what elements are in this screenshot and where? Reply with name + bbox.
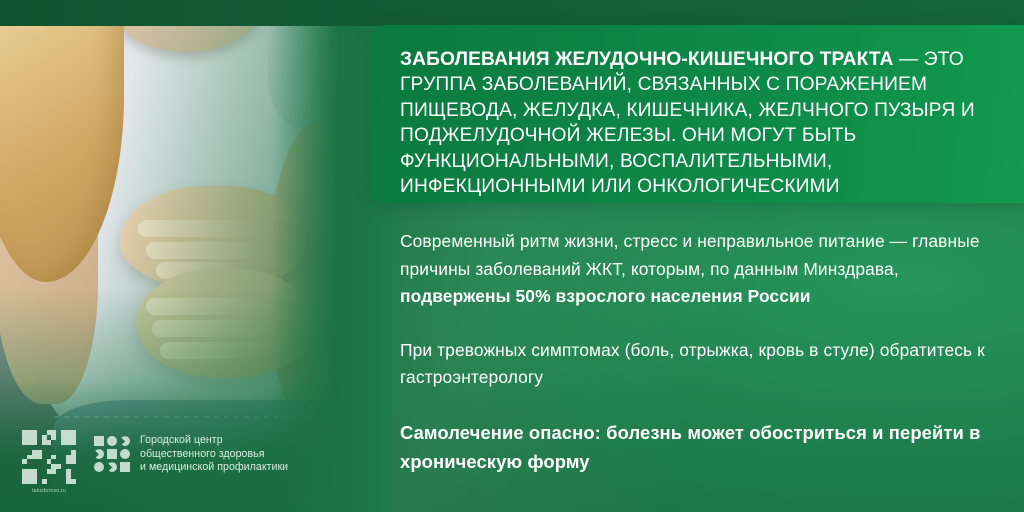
logo-cell-wedge-2 <box>94 449 104 459</box>
infographic-poster: ЗАБОЛЕВАНИЯ ЖЕЛУДОЧНО-КИШЕЧНОГО ТРАКТА —… <box>0 0 1024 512</box>
headline-rest: — ЭТО ГРУППА ЗАБОЛЕВАНИЙ, СВЯЗАННЫХ С ПО… <box>400 49 975 197</box>
organisation-name-line-1: Городской центр <box>140 434 288 448</box>
logo-cell-circle-2 <box>120 449 130 459</box>
headline-bold-lead: ЗАБОЛЕВАНИЯ ЖЕЛУДОЧНО-КИШЕЧНОГО ТРАКТА <box>400 49 893 70</box>
paragraph-causes-highlight: подвержены 50% взрослого населения Росси… <box>400 286 811 306</box>
logo-cell-wedge-3 <box>107 462 117 472</box>
logo-cell-circle-1 <box>107 436 117 446</box>
organisation-name-line-2: общественного здоровья <box>140 448 288 462</box>
footer-logo-lockup: takzdorovo.ru Городской центр общественн… <box>22 430 288 494</box>
organisation-name: Городской центр общественного здоровья и… <box>140 434 288 475</box>
paragraph-causes-plain: Современный ритм жизни, стресс и неправи… <box>400 231 980 279</box>
body-copy: Современный ритм жизни, стресс и неправи… <box>400 228 1014 476</box>
qr-block: takzdorovo.ru <box>22 430 76 494</box>
headline-text: ЗАБОЛЕВАНИЯ ЖЕЛУДОЧНО-КИШЕЧНОГО ТРАКТА —… <box>400 47 994 199</box>
logo-cell-square-2 <box>107 449 117 459</box>
top-band <box>0 0 1024 26</box>
logo-cell-square-3 <box>120 462 130 472</box>
organisation-lockup: Городской центр общественного здоровья и… <box>94 434 288 475</box>
organisation-name-line-3: и медицинской профилактики <box>140 461 288 475</box>
logo-cell-wedge-1 <box>120 436 130 446</box>
qr-code-icon[interactable] <box>22 430 76 484</box>
paragraph-causes: Современный ритм жизни, стресс и неправи… <box>400 228 1014 311</box>
logo-cell-square-1 <box>94 436 104 446</box>
paragraph-symptoms: При тревожных симптомах (боль, отрыжка, … <box>400 337 1014 392</box>
headline-card: ЗАБОЛЕВАНИЯ ЖЕЛУДОЧНО-КИШЕЧНОГО ТРАКТА —… <box>370 25 1024 203</box>
logo-cell-circle-3 <box>94 462 104 472</box>
logo-mark-icon <box>94 436 130 472</box>
paragraph-warning: Самолечение опасно: болезнь может обостр… <box>400 418 1014 476</box>
qr-caption: takzdorovo.ru <box>22 488 76 494</box>
